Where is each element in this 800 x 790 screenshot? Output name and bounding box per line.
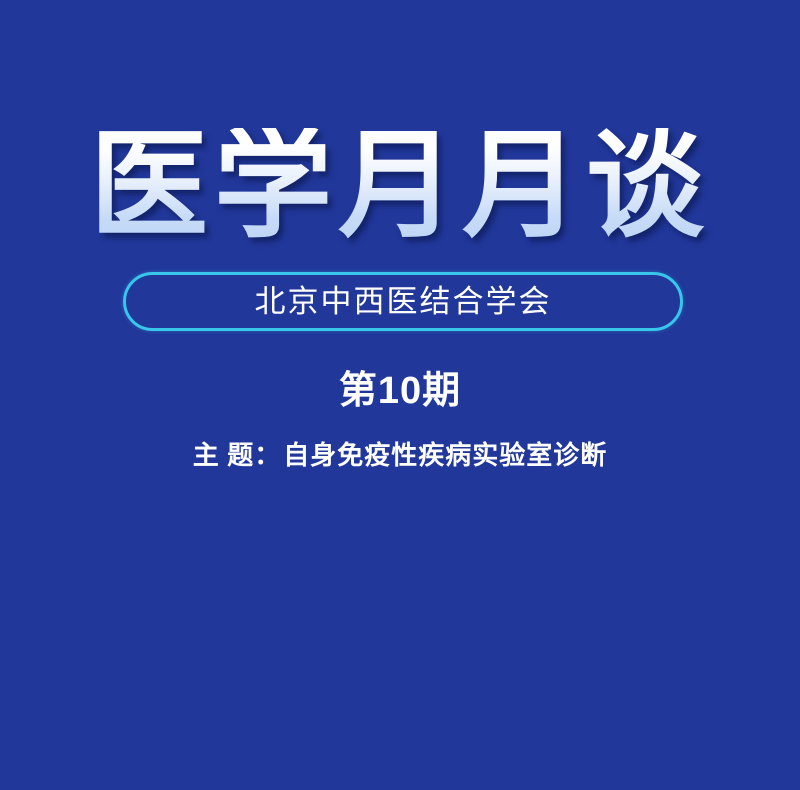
topic-value: 自身免疫性疾病实验室诊断: [283, 441, 607, 470]
poster-canvas: 医学月月谈 北京中西医结合学会 第10期 主 题：自身免疫性疾病实验室诊断: [0, 0, 800, 790]
organization-badge: 北京中西医结合学会: [123, 272, 683, 331]
organization-name: 北京中西医结合学会: [255, 286, 552, 317]
topic-line: 主 题：自身免疫性疾病实验室诊断: [0, 442, 800, 471]
page-title: 医学月月谈: [90, 128, 710, 246]
topic-label: 主 题：: [193, 441, 282, 470]
masthead: 医学月月谈: [0, 128, 800, 246]
episode-number: 第10期: [0, 371, 800, 413]
